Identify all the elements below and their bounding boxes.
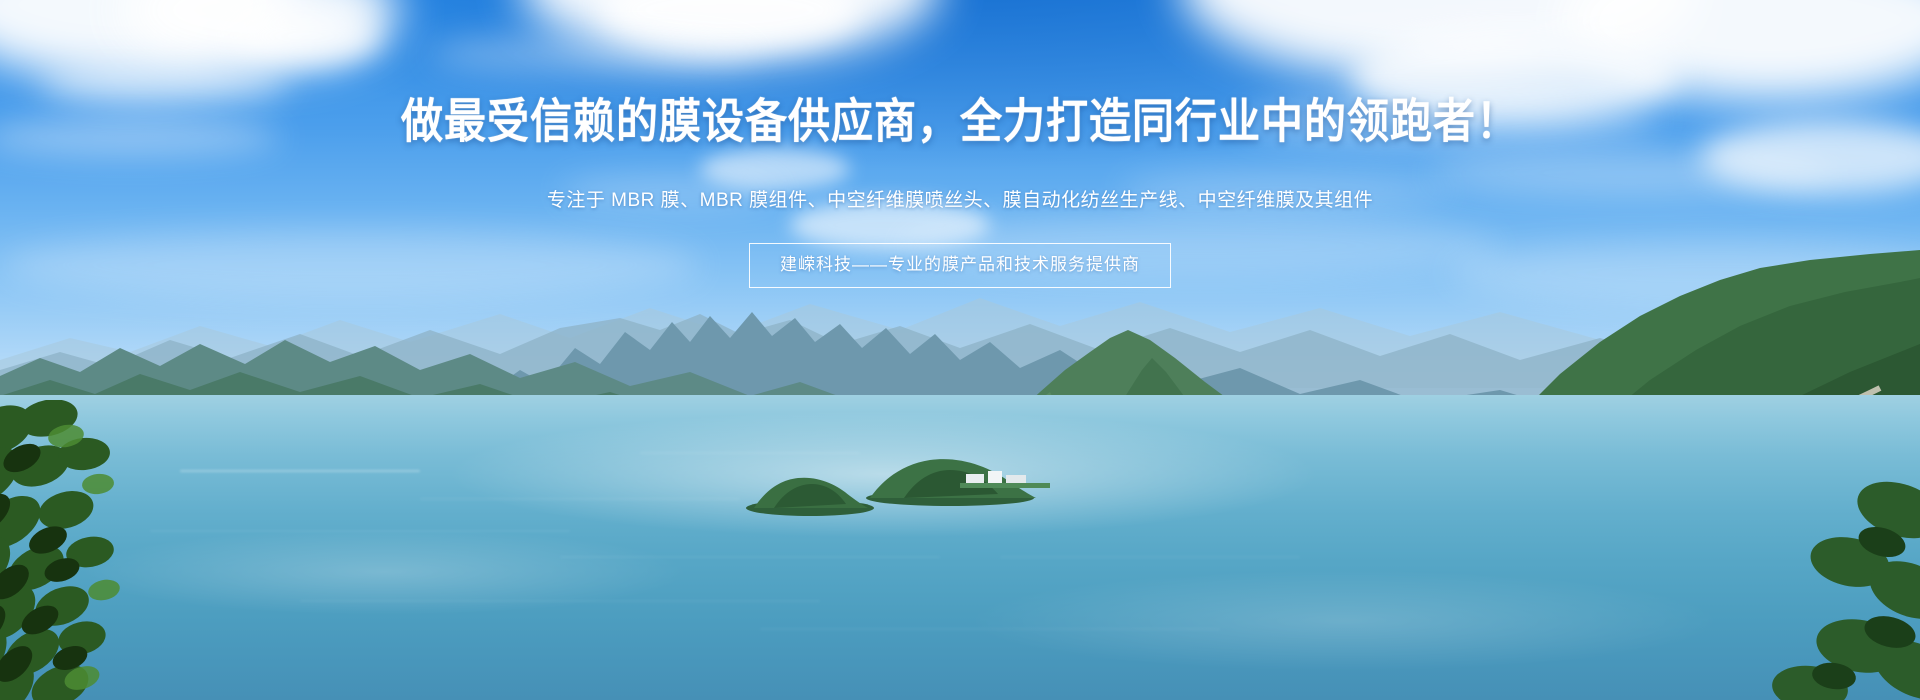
lake-water-shine [0,395,1920,700]
shore-building-cluster [960,462,1050,493]
foreground-foliage-right [1700,470,1920,700]
hero-banner: 做最受信赖的膜设备供应商，全力打造同行业中的领跑者！ 专注于 MBR 膜、MBR… [0,0,1920,700]
foreground-foliage-left [0,400,270,700]
island-small-left [740,470,880,521]
